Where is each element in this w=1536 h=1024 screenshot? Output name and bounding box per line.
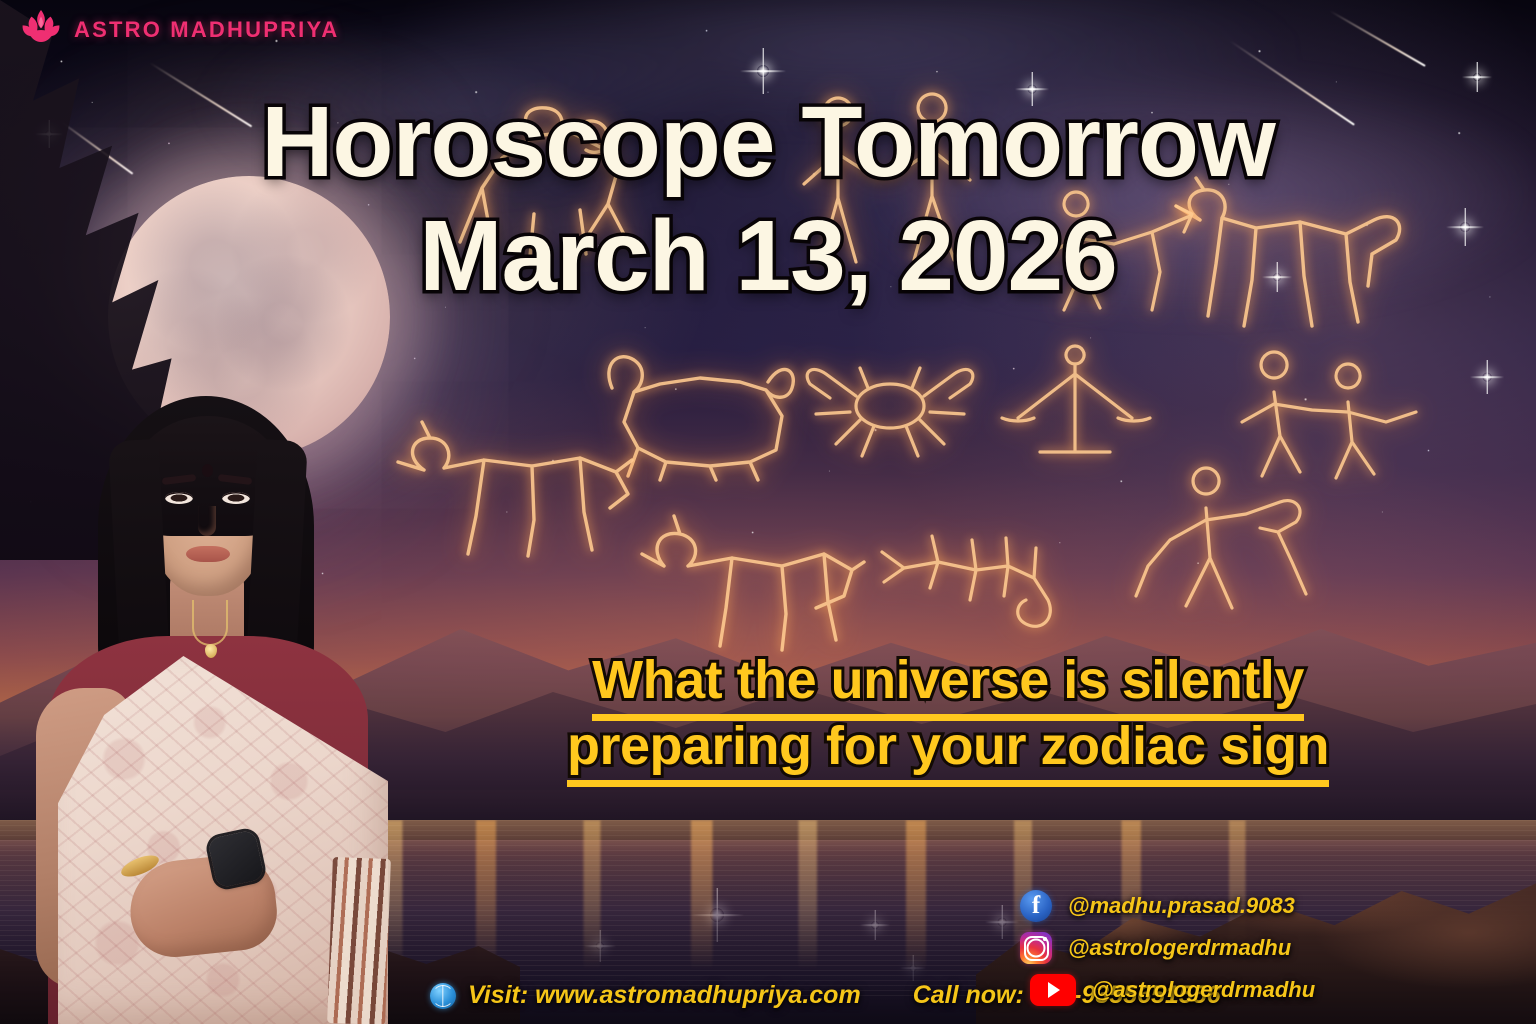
facebook-handle: @madhu.prasad.9083 [1068, 893, 1295, 919]
subheadline-line-2: preparing for your zodiac sign [420, 714, 1476, 780]
instagram-handle: @astrologerdrmadhu [1068, 935, 1291, 961]
nose [198, 506, 216, 536]
eye-right [222, 492, 250, 504]
subheadline: What the universe is silently preparing … [420, 648, 1476, 780]
facebook-icon[interactable]: f [1020, 890, 1052, 922]
subheadline-line-1: What the universe is silently [420, 648, 1476, 714]
brand-name: ASTRO MADHUPRIYA [74, 17, 339, 43]
necklace-chain [192, 600, 228, 646]
website-link[interactable]: Visit: www.astromadhupriya.com [430, 981, 861, 1010]
youtube-handle: @astrologerdrmadhu [1092, 977, 1315, 1003]
social-links: f @madhu.prasad.9083 @astrologerdrmadhu … [1020, 888, 1520, 1014]
website-text: Visit: www.astromadhupriya.com [468, 981, 861, 1010]
lips [186, 546, 230, 562]
brand-logo[interactable]: ASTRO MADHUPRIYA [20, 8, 339, 51]
instagram-icon[interactable] [1020, 932, 1052, 964]
social-row-instagram[interactable]: @astrologerdrmadhu [1020, 930, 1520, 966]
headline-line-2: March 13, 2026 [0, 206, 1536, 306]
lotus-icon [20, 8, 62, 51]
saree-border [327, 857, 391, 1024]
eye-left [165, 492, 193, 504]
bindi [202, 464, 213, 477]
headline-line-1: Horoscope Tomorrow [0, 92, 1536, 192]
astrologer-portrait [12, 388, 398, 1024]
page-title: Horoscope Tomorrow March 13, 2026 [0, 92, 1536, 306]
youtube-icon[interactable] [1030, 974, 1076, 1006]
wristwatch [207, 830, 264, 889]
social-row-facebook[interactable]: f @madhu.prasad.9083 [1020, 888, 1520, 924]
social-row-youtube[interactable]: @astrologerdrmadhu [1020, 972, 1520, 1008]
globe-icon [430, 983, 456, 1009]
horoscope-poster: ASTRO MADHUPRIYA Horoscope Tomorrow Marc… [0, 0, 1536, 1024]
